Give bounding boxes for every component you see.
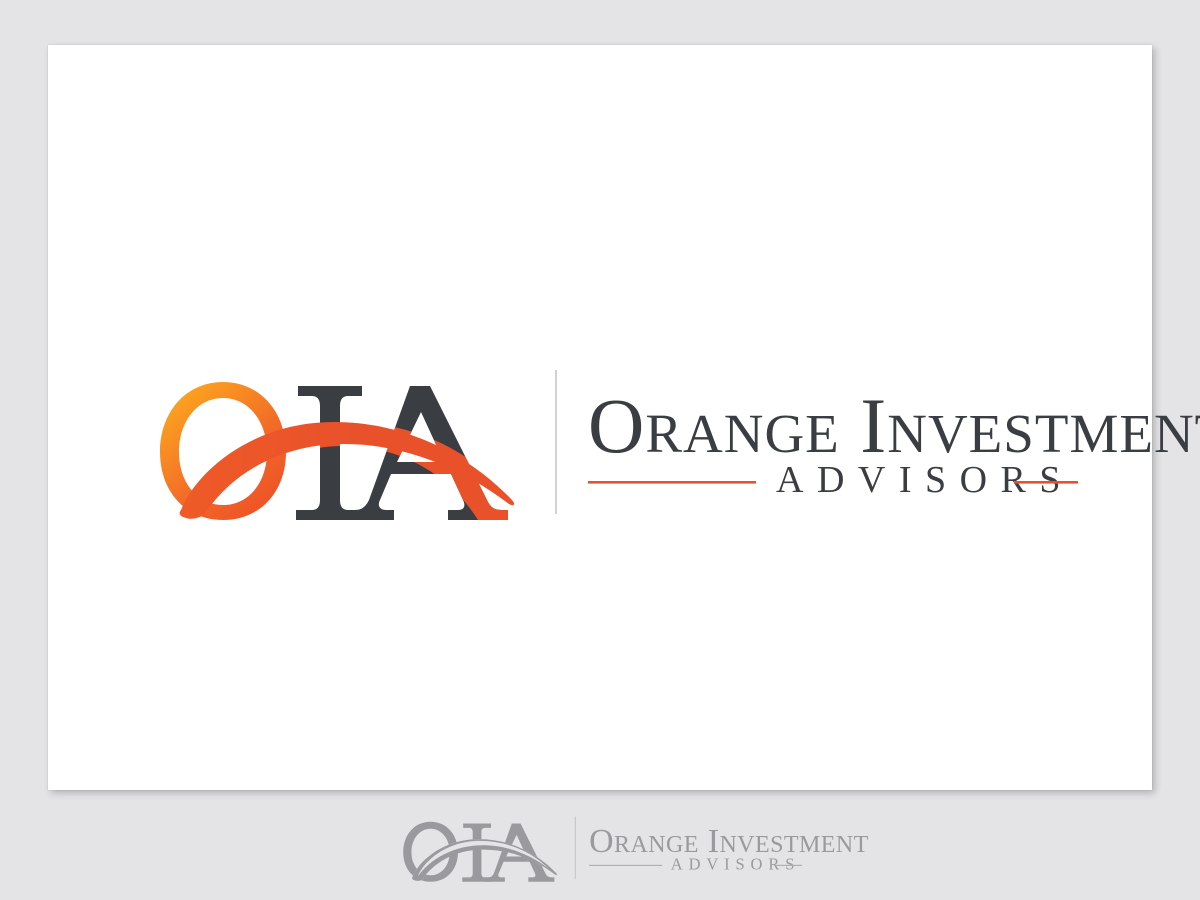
wordmark-company-line2: ADVISORS	[776, 459, 1074, 501]
orange-swoosh-ribbon	[180, 422, 515, 519]
advisors-rule-left	[588, 481, 756, 484]
footer-logo-svg: Orange Investment ADVISORS	[398, 812, 802, 882]
footer-wordmark-line2: ADVISORS	[671, 855, 800, 874]
footer-advisors-rule-right	[774, 865, 802, 866]
primary-logo-lockup: Orange Investment ADVISORS	[148, 360, 1078, 520]
monogram-letter-i	[296, 386, 364, 520]
footer-watermark-lockup: Orange Investment ADVISORS	[398, 812, 802, 882]
logo-artboard: Orange Investment ADVISORS	[48, 45, 1152, 790]
wordmark-company-line1: Orange Investment	[588, 382, 1200, 469]
footer-vertical-divider	[575, 817, 576, 880]
vertical-divider	[555, 370, 557, 514]
primary-logo-svg: Orange Investment ADVISORS	[148, 360, 1078, 520]
advisors-rule-right	[1014, 481, 1078, 484]
footer-monogram-letter-i	[462, 824, 492, 882]
footer-advisors-rule-left	[589, 865, 662, 866]
